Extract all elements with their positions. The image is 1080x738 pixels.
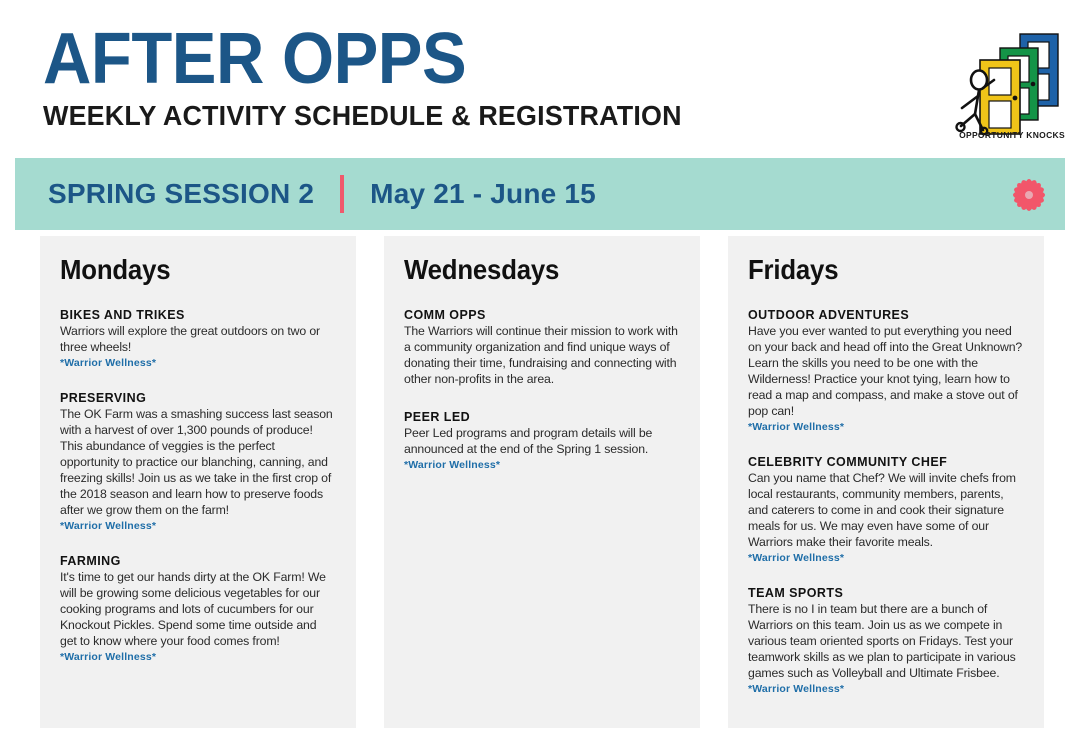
schedule-columns: Mondays BIKES AND TRIKES Warriors will e…	[0, 236, 1080, 738]
activity-title: PEER LED	[404, 410, 680, 424]
flower-icon	[995, 165, 1065, 225]
activity-title: OUTDOOR ADVENTURES	[748, 308, 1024, 322]
activity-title: FARMING	[60, 554, 336, 568]
title-block: AFTER OPPS WEEKLY ACTIVITY SCHEDULE & RE…	[43, 26, 708, 132]
activity-tag: *Warrior Wellness*	[404, 459, 680, 471]
activity-item: COMM OPPS The Warriors will continue the…	[404, 308, 680, 388]
activity-description: Peer Led programs and program details wi…	[404, 426, 680, 458]
activity-item: FARMING It's time to get our hands dirty…	[60, 554, 336, 663]
doors-icon	[952, 22, 1072, 142]
activity-item: TEAM SPORTS There is no I in team but th…	[748, 586, 1024, 695]
activity-tag: *Warrior Wellness*	[60, 357, 336, 369]
activity-item: OUTDOOR ADVENTURES Have you ever wanted …	[748, 308, 1024, 433]
page-header: AFTER OPPS WEEKLY ACTIVITY SCHEDULE & RE…	[0, 0, 1080, 158]
session-label: SPRING SESSION 2	[48, 178, 314, 210]
activity-title: COMM OPPS	[404, 308, 680, 322]
logo-caption: OPPORTUNITY KNOCKS	[952, 130, 1072, 140]
activity-description: The Warriors will continue their mission…	[404, 324, 680, 388]
opportunity-knocks-logo: OPPORTUNITY KNOCKS	[952, 22, 1072, 142]
session-banner: SPRING SESSION 2 May 21 - June 15	[15, 158, 1065, 230]
session-dates: May 21 - June 15	[370, 178, 596, 210]
day-heading-mondays: Mondays	[60, 254, 314, 286]
activity-description: The OK Farm was a smashing success last …	[60, 407, 336, 519]
activity-title: TEAM SPORTS	[748, 586, 1024, 600]
activity-description: There is no I in team but there are a bu…	[748, 602, 1024, 682]
banner-divider	[340, 175, 344, 213]
activity-item: PEER LED Peer Led programs and program d…	[404, 410, 680, 471]
activity-tag: *Warrior Wellness*	[748, 683, 1024, 695]
schedule-column-mondays: Mondays BIKES AND TRIKES Warriors will e…	[40, 236, 356, 728]
activity-tag: *Warrior Wellness*	[60, 651, 336, 663]
activity-tag: *Warrior Wellness*	[748, 552, 1024, 564]
activity-description: Can you name that Chef? We will invite c…	[748, 471, 1024, 551]
activity-title: BIKES AND TRIKES	[60, 308, 336, 322]
page-subtitle: WEEKLY ACTIVITY SCHEDULE & REGISTRATION	[43, 100, 682, 132]
activity-tag: *Warrior Wellness*	[60, 520, 336, 532]
activity-item: PRESERVING The OK Farm was a smashing su…	[60, 391, 336, 532]
activity-tag: *Warrior Wellness*	[748, 421, 1024, 433]
day-heading-wednesdays: Wednesdays	[404, 254, 658, 286]
activity-title: CELEBRITY COMMUNITY CHEF	[748, 455, 1024, 469]
activity-description: It's time to get our hands dirty at the …	[60, 570, 336, 650]
schedule-column-wednesdays: Wednesdays COMM OPPS The Warriors will c…	[384, 236, 700, 728]
activity-description: Have you ever wanted to put everything y…	[748, 324, 1024, 420]
page-title: AFTER OPPS	[43, 26, 662, 92]
activity-description: Warriors will explore the great outdoors…	[60, 324, 336, 356]
activity-title: PRESERVING	[60, 391, 336, 405]
activity-item: CELEBRITY COMMUNITY CHEF Can you name th…	[748, 455, 1024, 564]
activity-item: BIKES AND TRIKES Warriors will explore t…	[60, 308, 336, 369]
schedule-column-fridays: Fridays OUTDOOR ADVENTURES Have you ever…	[728, 236, 1044, 728]
session-banner-content: SPRING SESSION 2 May 21 - June 15	[48, 158, 596, 230]
day-heading-fridays: Fridays	[748, 254, 1002, 286]
